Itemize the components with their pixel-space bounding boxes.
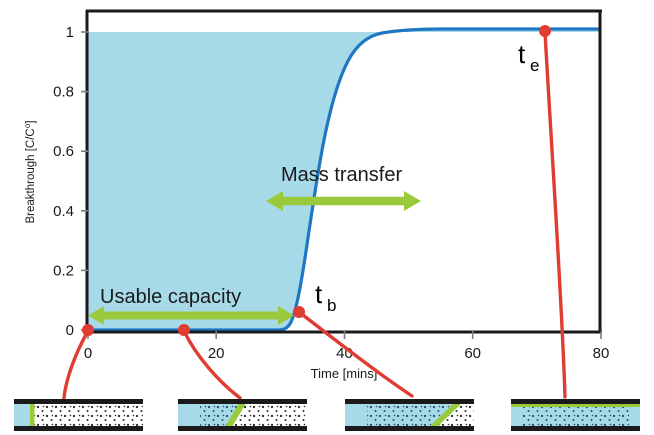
y-tick-label-0.4: 0.4 xyxy=(53,203,74,220)
y-tick-label-0.8: 0.8 xyxy=(53,84,74,101)
column-3-fully-saturated xyxy=(345,403,367,427)
tb-subscript: b xyxy=(327,296,336,315)
mass-transfer-label: Mass transfer xyxy=(281,164,402,186)
column-2-bottom-wall xyxy=(178,426,307,431)
y-axis-title: Breakthrough [C/C⁰] xyxy=(25,120,37,223)
marker-mid-bed xyxy=(178,324,190,336)
column-2-top-wall xyxy=(178,399,307,404)
column-1-mtz xyxy=(30,403,35,427)
column-4-top-wall xyxy=(511,399,640,404)
x-tick-label-60: 60 xyxy=(464,345,481,362)
column-3 xyxy=(345,399,474,431)
marker-origin xyxy=(82,324,94,336)
connector-2 xyxy=(184,331,240,398)
x-tick-label-0: 0 xyxy=(84,345,92,362)
column-4-bottom-wall xyxy=(511,426,640,431)
breakthrough-curve-figure: 1 0.8 0.6 0.4 0.2 0 0 20 40 60 80 Time [… xyxy=(0,0,654,435)
usable-capacity-label: Usable capacity xyxy=(100,286,241,308)
y-tick-label-0.2: 0.2 xyxy=(53,262,74,279)
x-tick-label-80: 80 xyxy=(593,345,610,362)
column-4-bed xyxy=(522,405,629,426)
column-3-bottom-wall xyxy=(345,426,474,431)
y-tick-label-1: 1 xyxy=(66,24,74,41)
connector-1 xyxy=(64,331,88,398)
column-1-saturated xyxy=(14,403,30,427)
column-1-bottom-wall xyxy=(14,426,143,431)
x-tick-label-20: 20 xyxy=(208,345,225,362)
tb-base: t xyxy=(315,279,323,309)
column-3-top-wall xyxy=(345,399,474,404)
column-4 xyxy=(511,399,640,431)
te-base: t xyxy=(518,39,526,69)
y-ticks-group: 1 0.8 0.6 0.4 0.2 0 xyxy=(53,24,88,339)
column-1 xyxy=(14,399,143,431)
y-tick-label-0: 0 xyxy=(66,322,74,339)
column-2-fully-saturated xyxy=(178,403,200,427)
y-tick-label-0.6: 0.6 xyxy=(53,143,74,160)
column-1-top-wall xyxy=(14,399,143,404)
te-subscript: e xyxy=(530,56,539,75)
marker-exhaustion xyxy=(539,25,551,37)
column-2 xyxy=(178,399,307,431)
marker-breakthrough xyxy=(293,306,305,318)
figure-svg: 1 0.8 0.6 0.4 0.2 0 0 20 40 60 80 Time [… xyxy=(0,0,654,435)
x-axis-title: Time [mins] xyxy=(311,366,378,381)
